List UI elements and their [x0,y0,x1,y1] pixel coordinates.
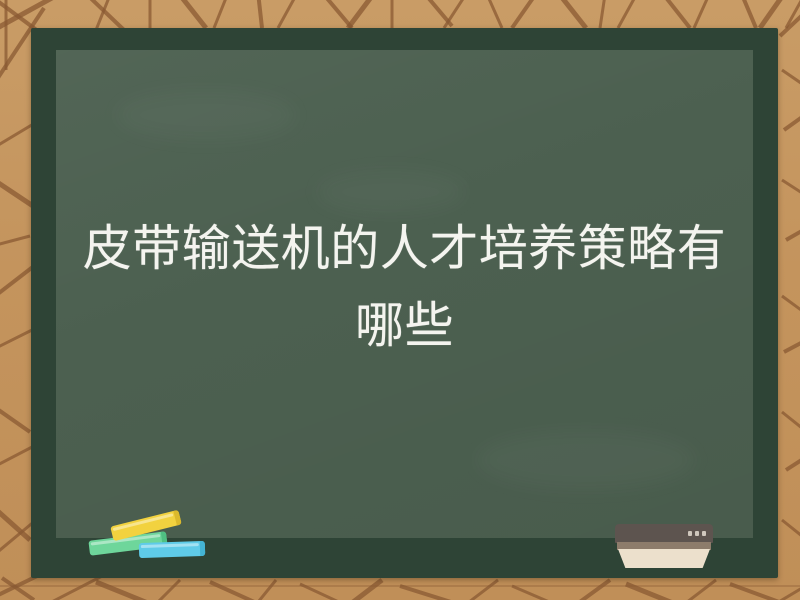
board-eraser[interactable] [615,524,713,568]
eraser-band [617,542,711,550]
blackboard-frame: 皮带输送机的人才培养策略有哪些 [31,28,778,578]
chalk-smudge [116,90,296,140]
blackboard-surface: 皮带输送机的人才培养策略有哪些 [56,50,753,538]
page-title: 皮带输送机的人才培养策略有哪些 [77,210,732,364]
eraser-handle [615,524,713,543]
eraser-dot [702,531,706,536]
chalk-highlight [113,513,174,531]
chalkboard-scene: 皮带输送机的人才培养策略有哪些 [0,0,800,600]
chalk-end-cap [173,510,181,526]
chalk-end-cap [200,541,206,556]
blue-chalk[interactable] [139,541,205,558]
eraser-felt [618,549,710,568]
chalk-group [83,510,213,570]
chalk-smudge [476,430,696,490]
eraser-dots-icon [688,531,706,536]
eraser-dot [695,531,699,536]
chalk-highlight [141,543,199,548]
chalk-smudge [316,170,466,214]
eraser-dot [688,531,692,536]
